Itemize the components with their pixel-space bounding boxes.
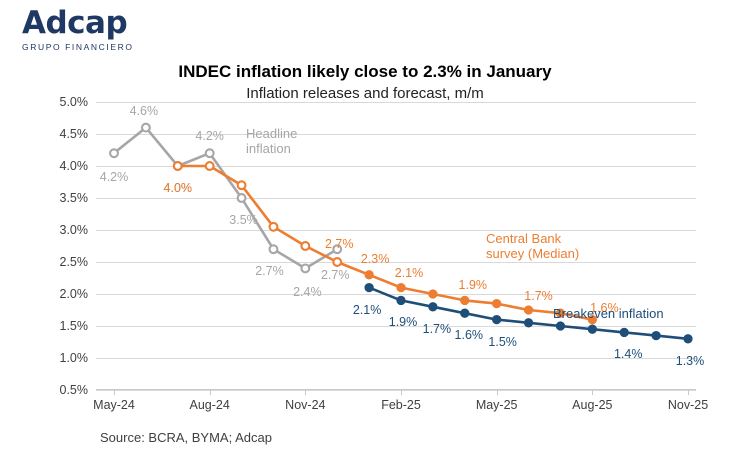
chart-subtitle: Inflation releases and forecast, m/m — [0, 85, 730, 102]
data-point-label: 1.9% — [459, 278, 488, 292]
data-point-label: 2.4% — [293, 285, 322, 299]
central-bank-survey-label: Central Banksurvey (Median) — [486, 232, 579, 262]
series-marker — [110, 149, 118, 157]
annotation-line: inflation — [246, 142, 297, 157]
series-marker — [397, 284, 404, 291]
data-point-label: 4.6% — [130, 104, 159, 118]
data-point-label: 1.6% — [455, 328, 484, 342]
series-marker — [589, 326, 596, 333]
y-axis-tick-label: 5.0% — [60, 95, 89, 109]
data-point-label: 1.3% — [676, 354, 705, 368]
y-axis-tick-label: 3.0% — [60, 223, 89, 237]
series-marker — [429, 303, 436, 310]
brand-wordmark: Adcap — [22, 8, 134, 39]
y-axis-tick-label: 2.0% — [60, 287, 89, 301]
series-marker — [142, 124, 150, 132]
series-marker — [493, 300, 500, 307]
data-point-label: 1.7% — [524, 289, 553, 303]
data-point-label: 2.7% — [325, 237, 354, 251]
series-marker — [238, 181, 246, 189]
y-axis-tick-label: 1.5% — [60, 319, 89, 333]
chart-series-svg — [96, 102, 696, 390]
x-axis-tick-label: Aug-25 — [572, 398, 612, 412]
data-point-label: 2.7% — [255, 264, 284, 278]
series-marker — [684, 335, 691, 342]
x-axis-tick-mark — [114, 390, 115, 395]
data-point-label: 1.4% — [614, 347, 643, 361]
x-axis-tick-label: Nov-25 — [668, 398, 708, 412]
data-point-label: 1.5% — [488, 335, 517, 349]
annotation-line: Breakeven inflation — [553, 307, 664, 322]
x-axis-tick-mark — [688, 390, 689, 395]
annotation-line: Headline — [246, 127, 297, 142]
x-axis-tick-mark — [497, 390, 498, 395]
series-marker — [621, 329, 628, 336]
series-marker — [238, 194, 246, 202]
chart-title: INDEC inflation likely close to 2.3% in … — [0, 62, 730, 82]
data-point-label: 2.1% — [353, 303, 382, 317]
series-marker — [301, 242, 309, 250]
source-note: Source: BCRA, BYMA; Adcap — [100, 430, 272, 445]
series-marker — [493, 316, 500, 323]
data-point-label: 4.2% — [195, 129, 224, 143]
series-marker — [270, 223, 278, 231]
series-marker — [366, 271, 373, 278]
series-marker — [557, 322, 564, 329]
y-axis-tick-label: 4.5% — [60, 127, 89, 141]
annotation-line: survey (Median) — [486, 247, 579, 262]
series-marker — [397, 297, 404, 304]
data-point-label: 1.7% — [423, 322, 452, 336]
data-point-label: 2.3% — [361, 252, 390, 266]
x-axis-tick-mark — [210, 390, 211, 395]
series-marker — [429, 290, 436, 297]
data-point-label: 4.0% — [164, 181, 193, 195]
series-marker — [301, 265, 309, 273]
x-axis-tick-mark — [401, 390, 402, 395]
y-axis-tick-label: 0.5% — [60, 383, 89, 397]
data-point-label: 1.9% — [389, 315, 418, 329]
series-marker — [174, 162, 182, 170]
y-axis-tick-label: 4.0% — [60, 159, 89, 173]
chart-plot-area: 5.0%4.5%4.0%3.5%3.0%2.5%2.0%1.5%1.0%0.5%… — [96, 102, 696, 390]
series-marker — [206, 162, 214, 170]
series-marker — [461, 310, 468, 317]
headline-inflation-label: Headlineinflation — [246, 127, 297, 157]
x-axis-tick-label: Feb-25 — [381, 398, 421, 412]
brand-logo: Adcap GRUPO FINANCIERO — [22, 8, 134, 52]
x-axis-tick-mark — [592, 390, 593, 395]
breakeven-inflation-label: Breakeven inflation — [553, 307, 664, 322]
y-axis-tick-label: 2.5% — [60, 255, 89, 269]
brand-tagline: GRUPO FINANCIERO — [22, 42, 134, 52]
series-marker — [366, 284, 373, 291]
x-axis-tick-label: May-25 — [476, 398, 518, 412]
x-axis-tick-label: Aug-24 — [190, 398, 230, 412]
series-marker — [333, 258, 341, 266]
series-marker — [525, 319, 532, 326]
annotation-line: Central Bank — [486, 232, 579, 247]
series-marker — [653, 332, 660, 339]
x-axis-tick-label: Nov-24 — [285, 398, 325, 412]
series-marker — [461, 297, 468, 304]
data-point-label: 2.7% — [321, 268, 350, 282]
x-axis-tick-mark — [305, 390, 306, 395]
series-marker — [270, 245, 278, 253]
series-marker — [206, 149, 214, 157]
series-marker — [525, 306, 532, 313]
y-axis-tick-label: 1.0% — [60, 351, 89, 365]
x-axis-tick-label: May-24 — [93, 398, 135, 412]
gridline — [96, 390, 696, 391]
data-point-label: 2.1% — [395, 266, 424, 280]
y-axis-tick-label: 3.5% — [60, 191, 89, 205]
data-point-label: 4.2% — [100, 170, 129, 184]
data-point-label: 3.5% — [229, 213, 258, 227]
